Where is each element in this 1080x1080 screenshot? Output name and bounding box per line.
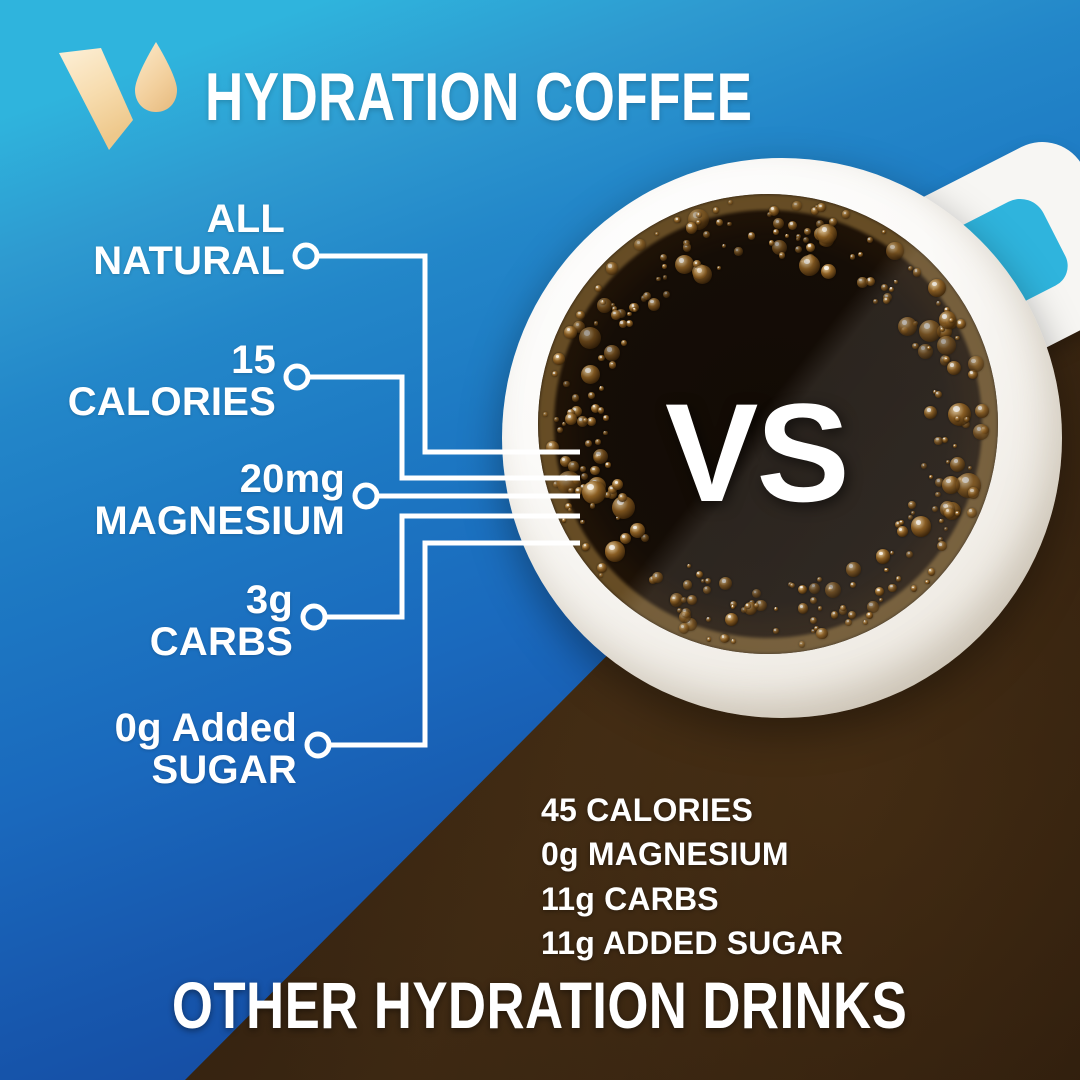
competitor-stats-list: 45 CALORIES 0g MAGNESIUM 11g CARBS 11g A… (541, 788, 843, 966)
competitor-title-text: OTHER HYDRATION DRINKS (172, 972, 907, 1038)
infographic-canvas: HYDRATION COFFEE ALL NATURAL 15 CALORIES… (0, 0, 1080, 1080)
callout-calories: 15 CALORIES (68, 340, 276, 423)
competitor-stat-carbs: 11g CARBS (541, 877, 843, 921)
callout-added-sugar: 0g Added SUGAR (115, 708, 297, 791)
v-droplet-logo-icon (55, 38, 183, 156)
vs-label: VS (665, 383, 848, 523)
callout-magnesium: 20mg MAGNESIUM (94, 459, 345, 542)
competitor-stat-added-sugar: 11g ADDED SUGAR (541, 921, 843, 965)
competitor-stat-magnesium: 0g MAGNESIUM (541, 832, 843, 876)
product-callout-list: ALL NATURAL 15 CALORIES 20mg MAGNESIUM 3… (0, 0, 1080, 1080)
header: HYDRATION COFFEE (55, 38, 907, 156)
callout-carbs: 3g CARBS (150, 580, 293, 663)
callout-all-natural: ALL NATURAL (93, 199, 285, 282)
competitor-stat-calories: 45 CALORIES (541, 788, 843, 832)
competitor-title: OTHER HYDRATION DRINKS (0, 972, 1080, 1038)
page-title: HYDRATION COFFEE (205, 63, 752, 131)
